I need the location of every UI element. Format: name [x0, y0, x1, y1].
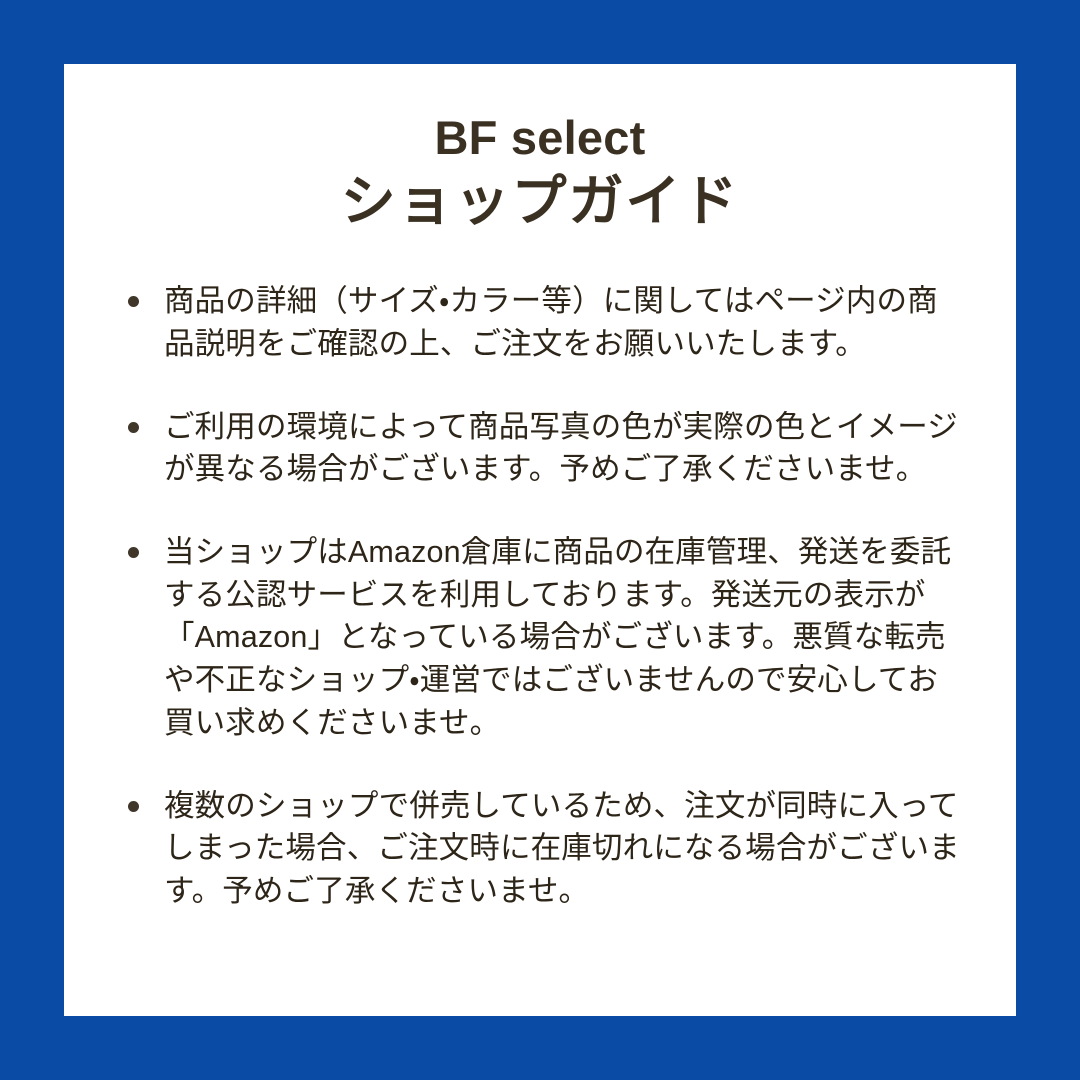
blue-frame: BF select ショップガイド 商品の詳細（サイズ・カラー等）に関してはペー… [0, 0, 1080, 1080]
note-text: 当ショップはAmazon倉庫に商品の在庫管理、発送を委託する公認サービスを利用し… [164, 531, 962, 744]
shop-guide-notes: 商品の詳細（サイズ・カラー等）に関してはページ内の商品説明をご確認の上、ご注文を… [116, 280, 964, 912]
page-title: BF select ショップガイド [116, 110, 964, 234]
bullet-dot-icon [128, 422, 139, 433]
title-subtitle: ショップガイド [116, 169, 964, 234]
list-item: ご利用の環境によって商品写真の色が実際の色とイメージが異なる場合がございます。予… [116, 406, 962, 491]
title-brand: BF select [116, 110, 964, 165]
bullet-dot-icon [128, 801, 139, 812]
list-item: 当ショップはAmazon倉庫に商品の在庫管理、発送を委託する公認サービスを利用し… [116, 531, 962, 744]
note-text: 複数のショップで併売しているため、注文が同時に入ってしまった場合、ご注文時に在庫… [164, 785, 962, 913]
guide-card: BF select ショップガイド 商品の詳細（サイズ・カラー等）に関してはペー… [64, 64, 1016, 1016]
bullet-dot-icon [128, 547, 139, 558]
note-text: ご利用の環境によって商品写真の色が実際の色とイメージが異なる場合がございます。予… [164, 406, 962, 491]
note-text: 商品の詳細（サイズ・カラー等）に関してはページ内の商品説明をご確認の上、ご注文を… [164, 280, 962, 365]
list-item: 複数のショップで併売しているため、注文が同時に入ってしまった場合、ご注文時に在庫… [116, 785, 962, 913]
bullet-dot-icon [128, 296, 139, 307]
list-item: 商品の詳細（サイズ・カラー等）に関してはページ内の商品説明をご確認の上、ご注文を… [116, 280, 962, 365]
